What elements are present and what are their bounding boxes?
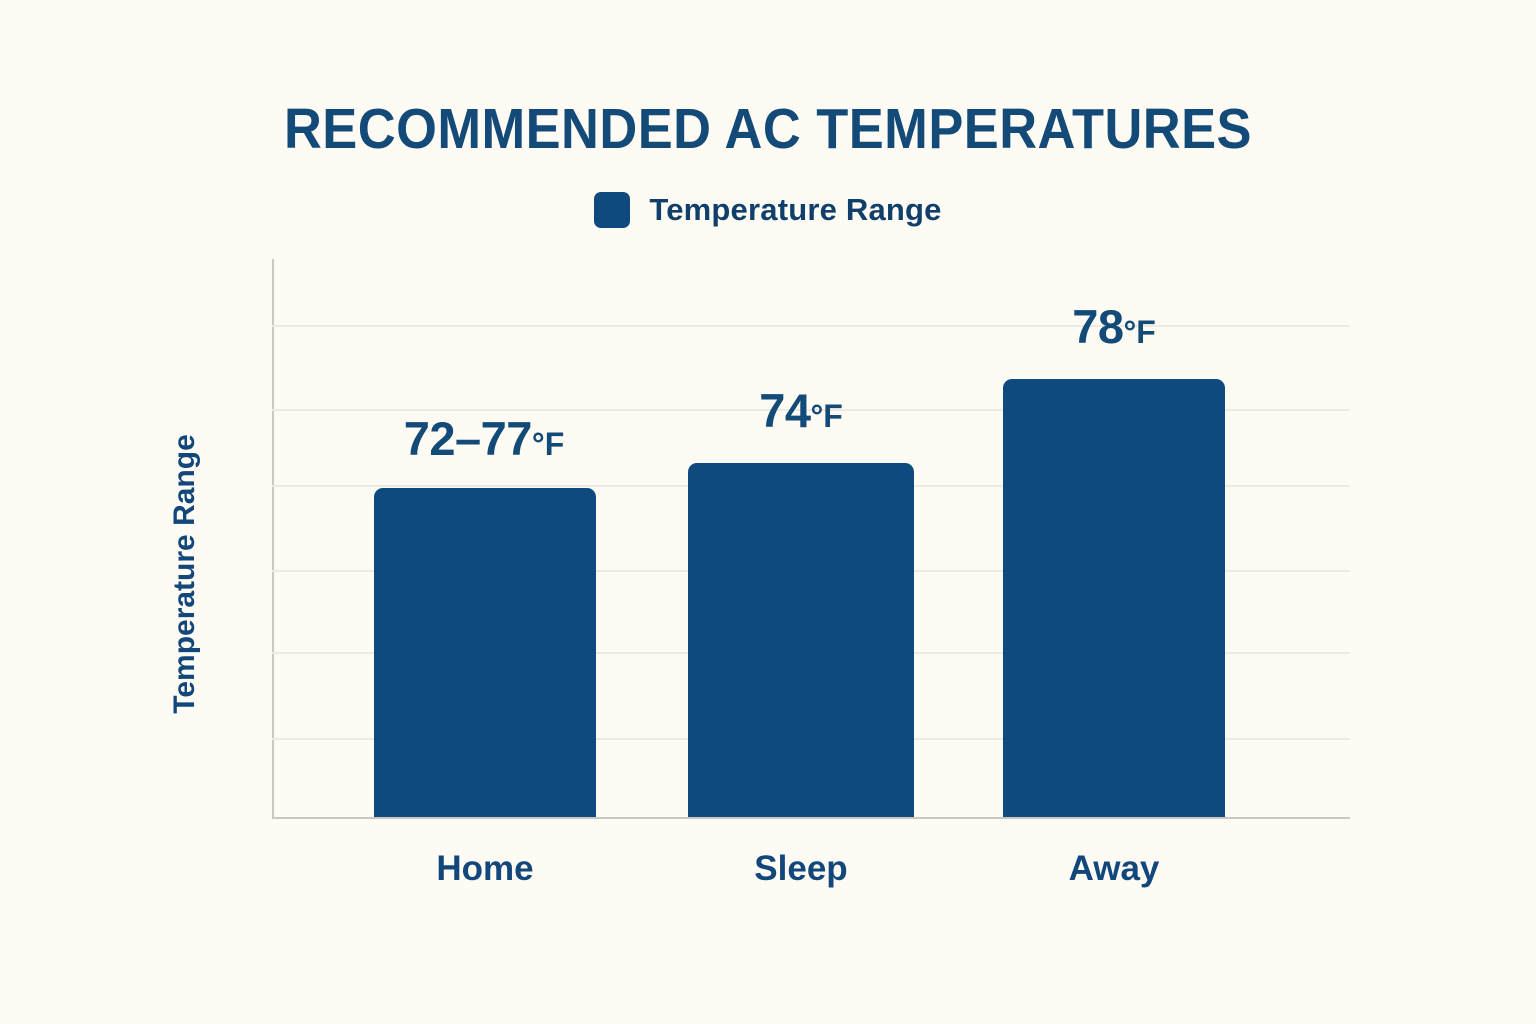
x-axis-label-away: Away bbox=[964, 849, 1264, 889]
value-label-away-unit: °F bbox=[1123, 314, 1155, 350]
legend-item-temperature-range[interactable]: Temperature Range bbox=[594, 192, 941, 228]
chart-canvas: RECOMMENDED AC TEMPERATURES Temperature … bbox=[0, 0, 1536, 1024]
value-label-sleep: 74°F bbox=[651, 387, 951, 434]
bar-home[interactable] bbox=[374, 488, 596, 817]
chart-legend: Temperature Range bbox=[0, 192, 1536, 228]
x-axis-label-home: Home bbox=[335, 849, 635, 889]
x-axis-baseline bbox=[272, 817, 1350, 819]
legend-item-label: Temperature Range bbox=[649, 192, 941, 228]
value-label-home: 72–77°F bbox=[334, 415, 634, 462]
bar-sleep[interactable] bbox=[688, 463, 914, 817]
value-label-home-unit: °F bbox=[532, 426, 564, 462]
page-title: RECOMMENDED AC TEMPERATURES bbox=[61, 96, 1474, 162]
value-label-sleep-unit: °F bbox=[810, 398, 842, 434]
y-axis-title-text: Temperature Range bbox=[168, 434, 202, 714]
legend-swatch-icon bbox=[594, 192, 630, 228]
y-axis-title: Temperature Range bbox=[163, 384, 207, 764]
y-axis-line bbox=[272, 259, 274, 819]
x-axis-label-sleep: Sleep bbox=[651, 849, 951, 889]
value-label-sleep-number: 74 bbox=[759, 384, 810, 437]
bar-away[interactable] bbox=[1003, 379, 1225, 817]
value-label-home-number: 72–77 bbox=[404, 412, 532, 465]
value-label-away: 78°F bbox=[964, 303, 1264, 350]
value-label-away-number: 78 bbox=[1072, 300, 1123, 353]
